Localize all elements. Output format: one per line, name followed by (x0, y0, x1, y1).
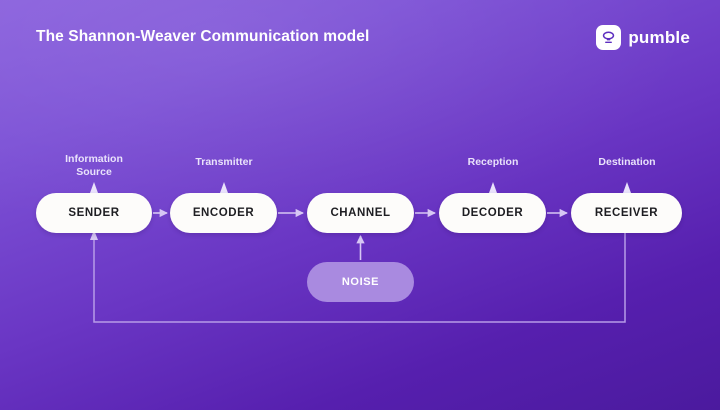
node-decoder[interactable]: DECODER (439, 193, 546, 233)
node-noise[interactable]: NOISE (307, 262, 414, 302)
node-decoder-label: DECODER (462, 207, 523, 219)
node-sender[interactable]: SENDER (36, 193, 152, 233)
node-encoder-label: ENCODER (193, 207, 254, 219)
shannon-weaver-diagram: Information Source Transmitter Reception… (0, 0, 720, 410)
node-encoder[interactable]: ENCODER (170, 193, 277, 233)
node-receiver[interactable]: RECEIVER (571, 193, 682, 233)
infographic-canvas: The Shannon-Weaver Communication model p… (0, 0, 720, 410)
node-noise-label: NOISE (342, 276, 379, 288)
caption-pointers (90, 182, 631, 193)
caption-reception: Reception (433, 156, 553, 169)
node-sender-label: SENDER (68, 207, 119, 219)
node-receiver-label: RECEIVER (595, 207, 658, 219)
caption-destination: Destination (567, 156, 687, 169)
node-channel-label: CHANNEL (330, 207, 390, 219)
caption-information-source: Information Source (34, 153, 154, 178)
caption-transmitter: Transmitter (164, 156, 284, 169)
node-channel[interactable]: CHANNEL (307, 193, 414, 233)
